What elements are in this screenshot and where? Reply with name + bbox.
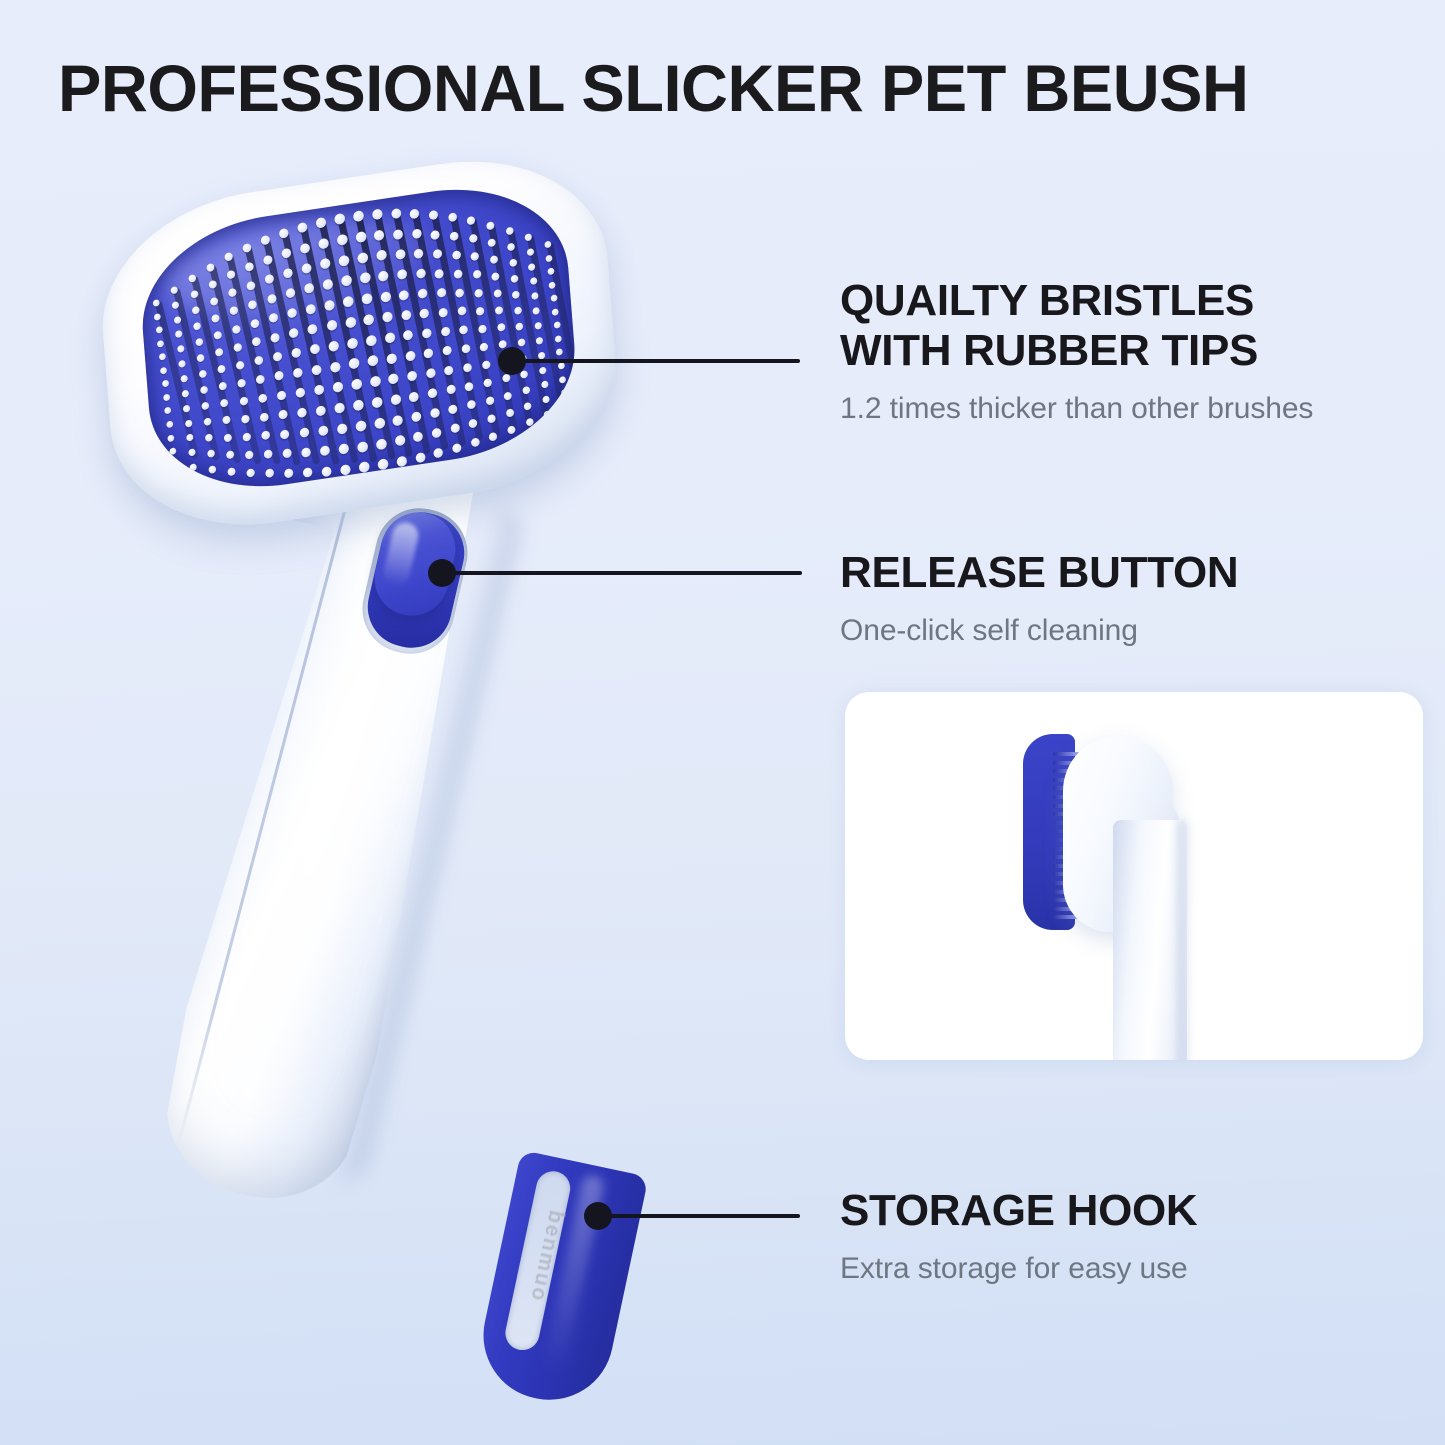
bristle-tip (188, 274, 196, 283)
bristle-tip (396, 455, 407, 467)
bristle-tip (164, 407, 171, 415)
bristle-tip (376, 250, 387, 262)
bristle-tip (555, 335, 562, 343)
bristle-tip (190, 290, 198, 299)
bristle-tip (493, 289, 501, 298)
bristle-tip (528, 263, 536, 271)
bristle-tip (453, 269, 462, 279)
bristle-tip (215, 348, 223, 357)
bristle-tip (170, 286, 178, 294)
bristle-tip (322, 466, 332, 477)
bristle-tip (185, 419, 193, 427)
bristle-tip (174, 316, 182, 324)
bristle-tip (428, 388, 438, 399)
bristle-tip (505, 226, 513, 235)
bristle-tip (433, 448, 443, 459)
callout-release-button: RELEASE BUTTON One-click self cleaning (840, 548, 1238, 650)
bristle-tip (412, 229, 422, 240)
bristle-tip (272, 352, 282, 362)
bristle-tip (357, 252, 368, 264)
bristle-tip (202, 402, 210, 411)
leader-line-hook (600, 1214, 800, 1218)
leader-line-release (444, 571, 802, 575)
bristle-tip (416, 268, 426, 279)
bristle-tip (536, 337, 544, 345)
bristle-tip (303, 467, 313, 478)
bristle-tip (399, 289, 409, 300)
bristle-tip (254, 356, 263, 366)
bristle-tip (486, 221, 494, 230)
bristle-tip (357, 441, 368, 453)
bristle-tip (310, 344, 320, 355)
bristle-tip (297, 407, 307, 418)
bristle-tip (335, 213, 346, 225)
bristle-tip (322, 279, 333, 291)
bristle-tip (347, 337, 358, 349)
bristle-tip (525, 418, 533, 427)
bristle-tip (522, 386, 530, 395)
bristle-tip (355, 420, 366, 432)
bristle-tip (463, 363, 472, 373)
bristle-tip (193, 322, 201, 331)
bristle-tip (507, 242, 515, 251)
bristle-tip (434, 268, 444, 278)
bristle-tip (525, 233, 533, 241)
bristle-tip (222, 416, 230, 425)
infographic-canvas: PROFESSIONAL SLICKER PET BEUSH (0, 0, 1445, 1445)
bristle-tip (169, 447, 176, 455)
bristle-tip (153, 299, 160, 307)
bristle-tip (542, 396, 550, 404)
callout-subtext: Extra storage for easy use (840, 1250, 1197, 1288)
bristle-tip (328, 340, 339, 352)
bristle-tip (467, 216, 476, 225)
bristle-tip (203, 418, 211, 427)
bristle-tip (461, 344, 470, 354)
bristle-tip (505, 408, 513, 417)
bristle-tip (318, 425, 328, 436)
bristle-tip (312, 364, 322, 375)
bristle-tip (514, 306, 522, 315)
bristle-tip (320, 258, 331, 270)
bristle-tip (470, 437, 479, 447)
bristle-tip (252, 337, 261, 347)
bristle-tip (324, 299, 335, 311)
bristle-tip (232, 324, 241, 333)
bristle-tip (515, 322, 523, 331)
bristle-tip (474, 288, 483, 297)
bristle-tip (271, 332, 281, 342)
bristle-tip (228, 288, 237, 297)
bristle-tip (283, 268, 293, 279)
callout-subtext: One-click self cleaning (840, 612, 1238, 650)
bristle-tip (343, 296, 354, 308)
bristle-tip (459, 325, 468, 335)
bristle-tip (351, 378, 362, 390)
bristle-tip (433, 249, 443, 259)
bristle-tip (405, 350, 415, 361)
bristle-tip (452, 250, 461, 260)
bristle-tip (235, 360, 244, 369)
bristle-tip (250, 318, 259, 328)
bristle-tip (426, 368, 436, 379)
bristle-tip (533, 307, 541, 315)
callout-dot-bristles (498, 347, 526, 375)
bristle-tip (208, 465, 216, 474)
bristle-tip (455, 288, 464, 298)
callout-quality-bristles: QUAILTY BRISTLES WITH RUBBER TIPS 1.2 ti… (840, 276, 1313, 428)
bristle-tip (530, 277, 538, 285)
callout-subtext: 1.2 times thicker than other brushes (840, 390, 1313, 428)
bristle-tip (284, 468, 294, 478)
bristle-tip (180, 375, 188, 383)
bristle-tip (391, 208, 401, 219)
bristle-tip (394, 435, 405, 447)
bristle-tip (436, 288, 446, 298)
bristle-tip (489, 432, 498, 441)
bristle-tip (285, 288, 295, 299)
bristle-tip (414, 248, 424, 259)
bristle-tip (339, 254, 350, 266)
bristle-tip (446, 385, 456, 395)
bristle-tip (258, 393, 267, 403)
bristle-tip (192, 306, 200, 315)
callout-heading: STORAGE HOOK (840, 1186, 1197, 1236)
bristle-tip (197, 354, 205, 363)
bristle-tip (212, 314, 220, 323)
bristle-tip (488, 238, 496, 247)
bristle-tip (163, 394, 170, 402)
bristle-tip (409, 391, 419, 402)
bristle-tip (318, 238, 329, 250)
bristle-tip (267, 293, 277, 303)
bristle-tip (213, 331, 221, 340)
bristle-tip (397, 269, 407, 280)
bristle-tip (497, 323, 505, 332)
bristle-tip (374, 417, 385, 429)
bristle-tip (230, 306, 239, 315)
bristle-tip (413, 431, 423, 442)
bristle-tip (424, 348, 434, 359)
bristle-tip (491, 272, 499, 281)
bristle-tip (531, 292, 539, 300)
bristle-tip (393, 228, 403, 239)
bristle-tip (298, 222, 308, 233)
bristle-tip (316, 405, 326, 416)
bristle-tip (361, 293, 372, 305)
bristle-tip (256, 374, 265, 384)
callout-heading: RELEASE BUTTON (840, 548, 1238, 598)
bristle-tip (550, 295, 557, 303)
bristle-tip (182, 390, 190, 398)
bristle-tip (450, 423, 460, 433)
bristle-tip (482, 360, 491, 369)
bristle-tip (388, 373, 399, 385)
callout-heading: QUAILTY BRISTLES WITH RUBBER TIPS (840, 276, 1313, 376)
bristle-tip (226, 270, 235, 279)
bristle-tip (559, 375, 566, 383)
bristle-tip (260, 412, 269, 422)
bristle-tip (227, 467, 235, 476)
bristle-tip (504, 391, 512, 400)
bristle-tip (206, 263, 214, 272)
bristle-tip (476, 306, 485, 315)
bristle-tip (549, 281, 556, 289)
bristle-tip (154, 313, 161, 321)
bristle-tip (287, 308, 297, 319)
bristle-tip (487, 414, 496, 423)
bristle-tip (248, 300, 257, 310)
bristle-tip (220, 399, 228, 408)
bristle-tip (244, 262, 253, 272)
bristle-tip (159, 353, 166, 361)
bristle-tip (316, 217, 327, 229)
callout-dot-release (428, 559, 456, 587)
bristle-tip (188, 449, 196, 457)
bristle-tip (465, 381, 474, 391)
bristle-tip (337, 234, 348, 246)
bristle-tip (208, 280, 216, 289)
bristle-tip (326, 320, 337, 332)
bristle-tip (541, 381, 549, 389)
bristle-tip (265, 468, 274, 478)
bristle-tip (263, 449, 272, 459)
bristle-tip (332, 381, 343, 393)
bristle-tip (368, 355, 379, 367)
bristle-tip (198, 370, 206, 379)
bristle-tip (210, 297, 218, 306)
bristle-tip (224, 433, 232, 442)
bristle-tip (219, 382, 227, 391)
bristle-tip (336, 423, 347, 435)
bristle-tip (340, 464, 351, 476)
bristle-tip (359, 272, 370, 284)
bristle-tip (415, 452, 425, 463)
bristle-tip (166, 420, 173, 428)
bristle-tip (403, 330, 413, 341)
bristle-tip (534, 322, 542, 330)
bristle-tip (234, 342, 243, 351)
bristle-tip (429, 210, 439, 220)
bristle-tip (245, 450, 254, 459)
callout-storage-hook: STORAGE HOOK Extra storage for easy use (840, 1186, 1197, 1288)
bristle-tip (546, 254, 553, 262)
bristle-tip (300, 242, 310, 253)
bristle-tip (450, 231, 459, 241)
bristle-tip (167, 434, 174, 442)
inset-handle-shadow (1177, 820, 1193, 1060)
bristle-tip (160, 367, 167, 375)
bristle-tip (442, 346, 452, 356)
bristle-tip (457, 306, 466, 316)
bristle-tip (382, 311, 393, 323)
bristle-tip (241, 414, 250, 423)
bristle-tip (469, 234, 478, 243)
bristle-tip (509, 258, 517, 267)
bristle-tip (279, 228, 289, 239)
bristle-tip (263, 255, 273, 265)
bristle-tip (301, 447, 311, 458)
bristle-tip (386, 353, 397, 365)
bristle-tip (278, 410, 288, 420)
bristle-tip (452, 443, 462, 453)
bristle-tip (304, 283, 314, 294)
storage-hook-loop: benmuo (469, 1150, 654, 1425)
bristle-tip (370, 376, 381, 388)
bristle-tip (485, 396, 494, 405)
brush-head (94, 140, 624, 545)
bristle-tip (186, 434, 194, 442)
bristle-tip (295, 387, 305, 398)
bristle-tip (420, 308, 430, 319)
bristle-tip (289, 328, 299, 339)
bristle-tip (438, 307, 448, 317)
bristle-tip (161, 380, 168, 388)
bristle-tip (355, 231, 366, 243)
bristle-tip (269, 313, 279, 323)
bristle-tip (341, 275, 352, 287)
inset-detail-card (845, 692, 1423, 1060)
bristle-tip (353, 399, 364, 411)
bristle-tip (544, 411, 552, 419)
bristle-tip (226, 450, 234, 459)
bristle-tip (558, 362, 565, 370)
bristle-tip (330, 361, 341, 373)
callout-dot-hook (584, 1202, 612, 1230)
bristle-tip (448, 404, 458, 414)
product-illustration: benmuo (0, 0, 900, 1445)
bristle-tip (207, 449, 215, 458)
inset-handle (1113, 820, 1187, 1060)
bristle-tip (205, 433, 213, 442)
bristle-tip (467, 400, 476, 410)
bristle-tip (471, 252, 480, 261)
brush-handle (126, 427, 537, 1222)
bristle-tip (374, 229, 385, 241)
bristle-tip (177, 345, 185, 353)
bristle-tip (363, 314, 374, 326)
bristle-tip (170, 461, 177, 469)
bristle-tip (200, 386, 208, 395)
bristle-tip (422, 328, 432, 339)
bristle-tip (349, 358, 360, 370)
bristle-tip (472, 270, 481, 279)
bristle-tip (431, 428, 441, 439)
bristle-tip (480, 342, 489, 351)
bristle-tip (281, 248, 291, 259)
bristle-tip (265, 274, 275, 284)
bristle-tip (524, 402, 532, 411)
bristle-tip (359, 461, 370, 473)
bristle-tip (376, 438, 387, 450)
bristle-tip (410, 209, 420, 220)
leader-line-bristles (512, 359, 800, 363)
bristle-tip (378, 458, 389, 470)
bristle-tip (390, 394, 401, 406)
bristle-tip (299, 427, 309, 438)
bristle-tip (490, 255, 498, 264)
bristle-tip (478, 324, 487, 333)
bristle-tip (401, 310, 411, 321)
bristle-tip (407, 371, 417, 382)
bristle-tip (430, 408, 440, 419)
bristle-tip (547, 268, 554, 276)
bristle-tip (353, 210, 364, 222)
bristle-tip (262, 431, 271, 441)
bristle-tip (552, 308, 559, 316)
bristle-tip (291, 348, 301, 359)
bristle-tip (156, 326, 163, 334)
bristle-tip (539, 366, 547, 374)
bristle-tip (469, 419, 478, 429)
bristle-tip (314, 384, 324, 395)
bristle-tip (517, 338, 525, 347)
bristle-tip (553, 322, 560, 330)
bristle-tip (411, 411, 421, 422)
bristle-tip (380, 291, 391, 303)
bristle-tip (293, 367, 303, 378)
bristle-tip (510, 274, 518, 283)
bristle-tip (306, 303, 316, 314)
bristle-tip (372, 209, 383, 221)
bristle-tip (502, 374, 510, 383)
bristle-tip (526, 248, 534, 256)
bristle-tip (440, 326, 450, 336)
bristle-tip (444, 365, 454, 375)
bristle-tip (365, 334, 376, 346)
bristle-tip (261, 235, 271, 245)
bristle-tip (280, 429, 290, 439)
bristle-tip (189, 463, 197, 471)
bristle-tip (507, 425, 515, 434)
bristle-tip (448, 213, 457, 223)
bristle-tip (276, 390, 286, 400)
bristle-tip (556, 348, 563, 356)
bristle-tip (175, 330, 183, 338)
bristle-tip (243, 243, 252, 253)
bristle-tip (520, 370, 528, 379)
bristle-tip (302, 263, 312, 274)
bristle-tip (195, 338, 203, 347)
bristle-tip (172, 301, 180, 309)
bristle-tip (178, 360, 186, 368)
bristle-tip (334, 402, 345, 414)
bristle-tip (431, 230, 441, 240)
bristle-tip (217, 365, 225, 374)
bristle-tip (378, 270, 389, 282)
bristle-tip (395, 249, 405, 260)
bristle-tip (282, 448, 292, 458)
bristle-tip (157, 340, 164, 348)
bristle-tip (246, 281, 255, 291)
bristle-tip (237, 378, 246, 387)
bristle-tip (239, 396, 248, 405)
bristle-tip (246, 468, 255, 477)
bristle-tip (392, 414, 403, 426)
bristle-tip (418, 288, 428, 299)
bristle-tip (183, 404, 191, 412)
bristle-tip (372, 396, 383, 408)
bristle-tip (274, 371, 284, 381)
bristle-tip (483, 378, 492, 387)
bristle-tip (338, 443, 349, 455)
bristle-tip (561, 389, 568, 397)
bristle-tip (512, 290, 520, 299)
bristle-tip (384, 332, 395, 344)
bristle-tip (224, 252, 233, 261)
bristle-tip (243, 432, 252, 441)
bristle-tip (562, 402, 569, 410)
